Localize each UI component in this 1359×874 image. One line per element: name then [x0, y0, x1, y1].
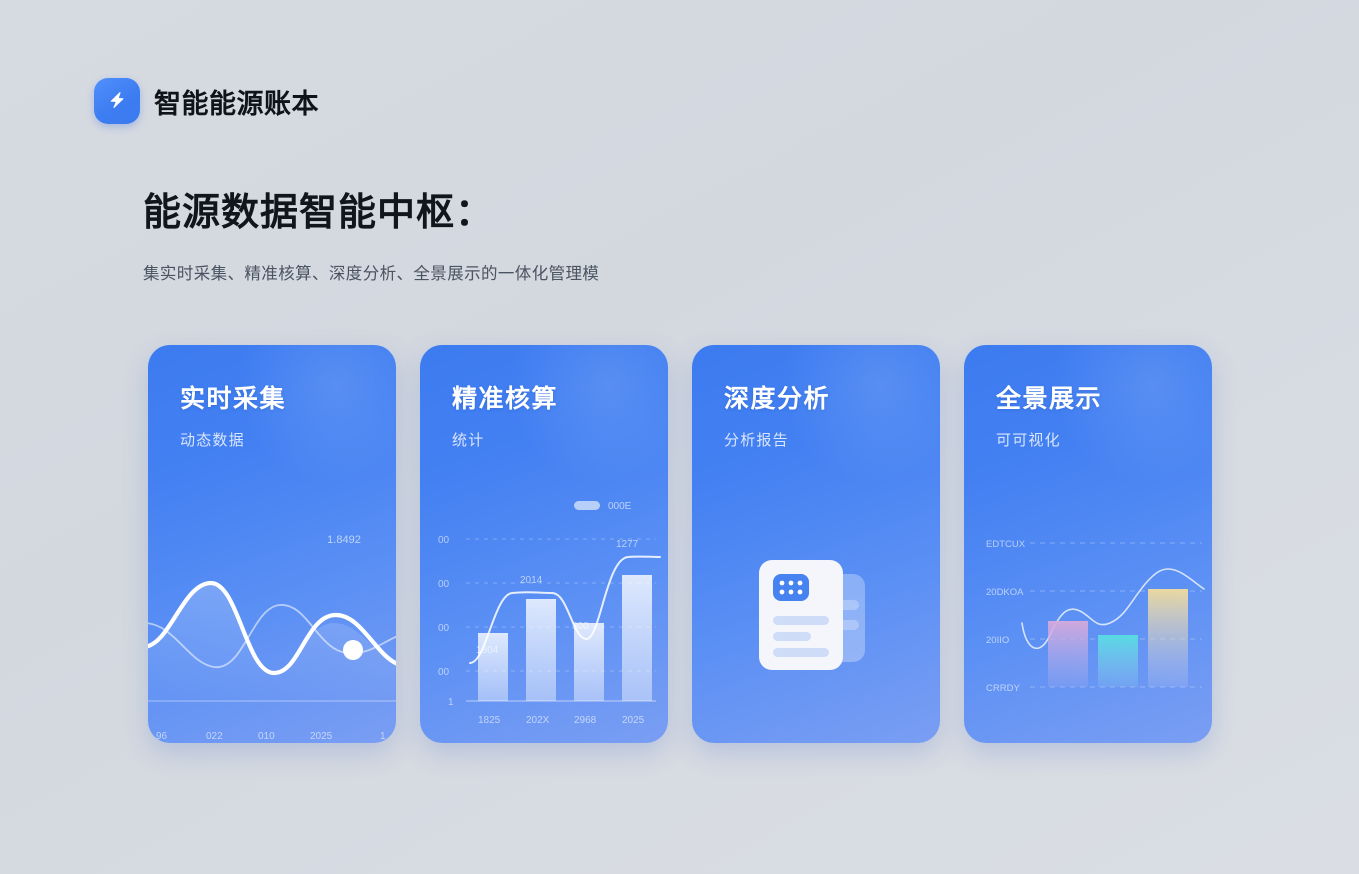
bar-0: [478, 633, 508, 701]
colored-bar-chart-visual: EDTCUX 20DKOA 20IIO CRRDY: [964, 495, 1212, 743]
bar-2: [1148, 589, 1188, 687]
line-marker-label: 1.8492: [327, 534, 361, 546]
feature-card-analysis[interactable]: 深度分析 分析报告: [692, 345, 940, 743]
feature-card-realtime[interactable]: 实时采集 动态数据 1.8492: [148, 345, 396, 743]
line-marker-dot: [343, 640, 363, 660]
y-tick-2: 00: [438, 623, 450, 634]
x-tick-0: 96: [156, 731, 168, 742]
card-subtitle: 统计: [452, 429, 558, 450]
page-subtitle: 集实时采集、精准核算、深度分析、全景展示的一体化管理模: [143, 260, 599, 284]
x-tick-1: 022: [206, 731, 223, 742]
card-header: 深度分析 分析报告: [724, 379, 830, 450]
point-label-1: 2014: [520, 575, 543, 586]
y-tick-4: 1: [448, 697, 454, 708]
y-tick-0: 00: [438, 535, 450, 546]
card-subtitle: 分析报告: [724, 429, 830, 450]
point-label-2: 800: [572, 621, 589, 632]
y-tick-1: 20DKOA: [986, 587, 1024, 598]
feature-card-accounting[interactable]: 精准核算 统计 000E: [420, 345, 668, 743]
headline-block: 能源数据智能中枢： 集实时采集、精准核算、深度分析、全景展示的一体化管理模: [143, 190, 599, 284]
card-title: 精准核算: [452, 379, 558, 415]
bar-3: [622, 575, 652, 701]
card-header: 全景展示 可可视化: [996, 379, 1102, 450]
card-subtitle: 动态数据: [180, 429, 286, 450]
point-label-0: 1804: [476, 645, 499, 656]
page-title: 能源数据智能中枢：: [143, 190, 599, 238]
x-tick-3: 2025: [310, 731, 333, 742]
x-tick-4: 1: [380, 731, 386, 742]
x-tick-1: 202X: [526, 715, 550, 726]
document-visual: [692, 495, 940, 743]
brand-header: 智能能源账本: [94, 78, 319, 124]
brand-title: 智能能源账本: [154, 82, 319, 121]
x-tick-0: 1825: [478, 715, 501, 726]
legend-label: 000E: [608, 501, 632, 512]
card-header: 精准核算 统计: [452, 379, 558, 450]
line-chart-visual: 1.8492 96 022 010 2025 1: [148, 495, 396, 743]
x-tick-2: 2968: [574, 715, 597, 726]
x-tick-3: 2025: [622, 715, 645, 726]
y-tick-1: 00: [438, 579, 450, 590]
lightning-bolt-icon: [94, 78, 140, 124]
feature-card-visualization[interactable]: 全景展示 可可视化: [964, 345, 1212, 743]
y-tick-3: CRRDY: [986, 683, 1020, 694]
document-icon: [741, 544, 891, 694]
feature-card-list: 实时采集 动态数据 1.8492: [148, 345, 1212, 743]
y-tick-0: EDTCUX: [986, 539, 1026, 550]
y-tick-2: 20IIO: [986, 635, 1009, 646]
card-title: 实时采集: [180, 379, 286, 415]
bar-line-chart-visual: 000E 00 00 00 00 1: [420, 495, 668, 743]
card-title: 全景展示: [996, 379, 1102, 415]
x-tick-2: 010: [258, 731, 275, 742]
y-tick-3: 00: [438, 667, 450, 678]
bar-0: [1048, 621, 1088, 687]
bar-1: [526, 599, 556, 701]
card-subtitle: 可可视化: [996, 429, 1102, 450]
bar-1: [1098, 635, 1138, 687]
card-title: 深度分析: [724, 379, 830, 415]
legend-swatch: [574, 501, 600, 510]
point-label-3: 1277: [616, 539, 639, 550]
card-header: 实时采集 动态数据: [180, 379, 286, 450]
